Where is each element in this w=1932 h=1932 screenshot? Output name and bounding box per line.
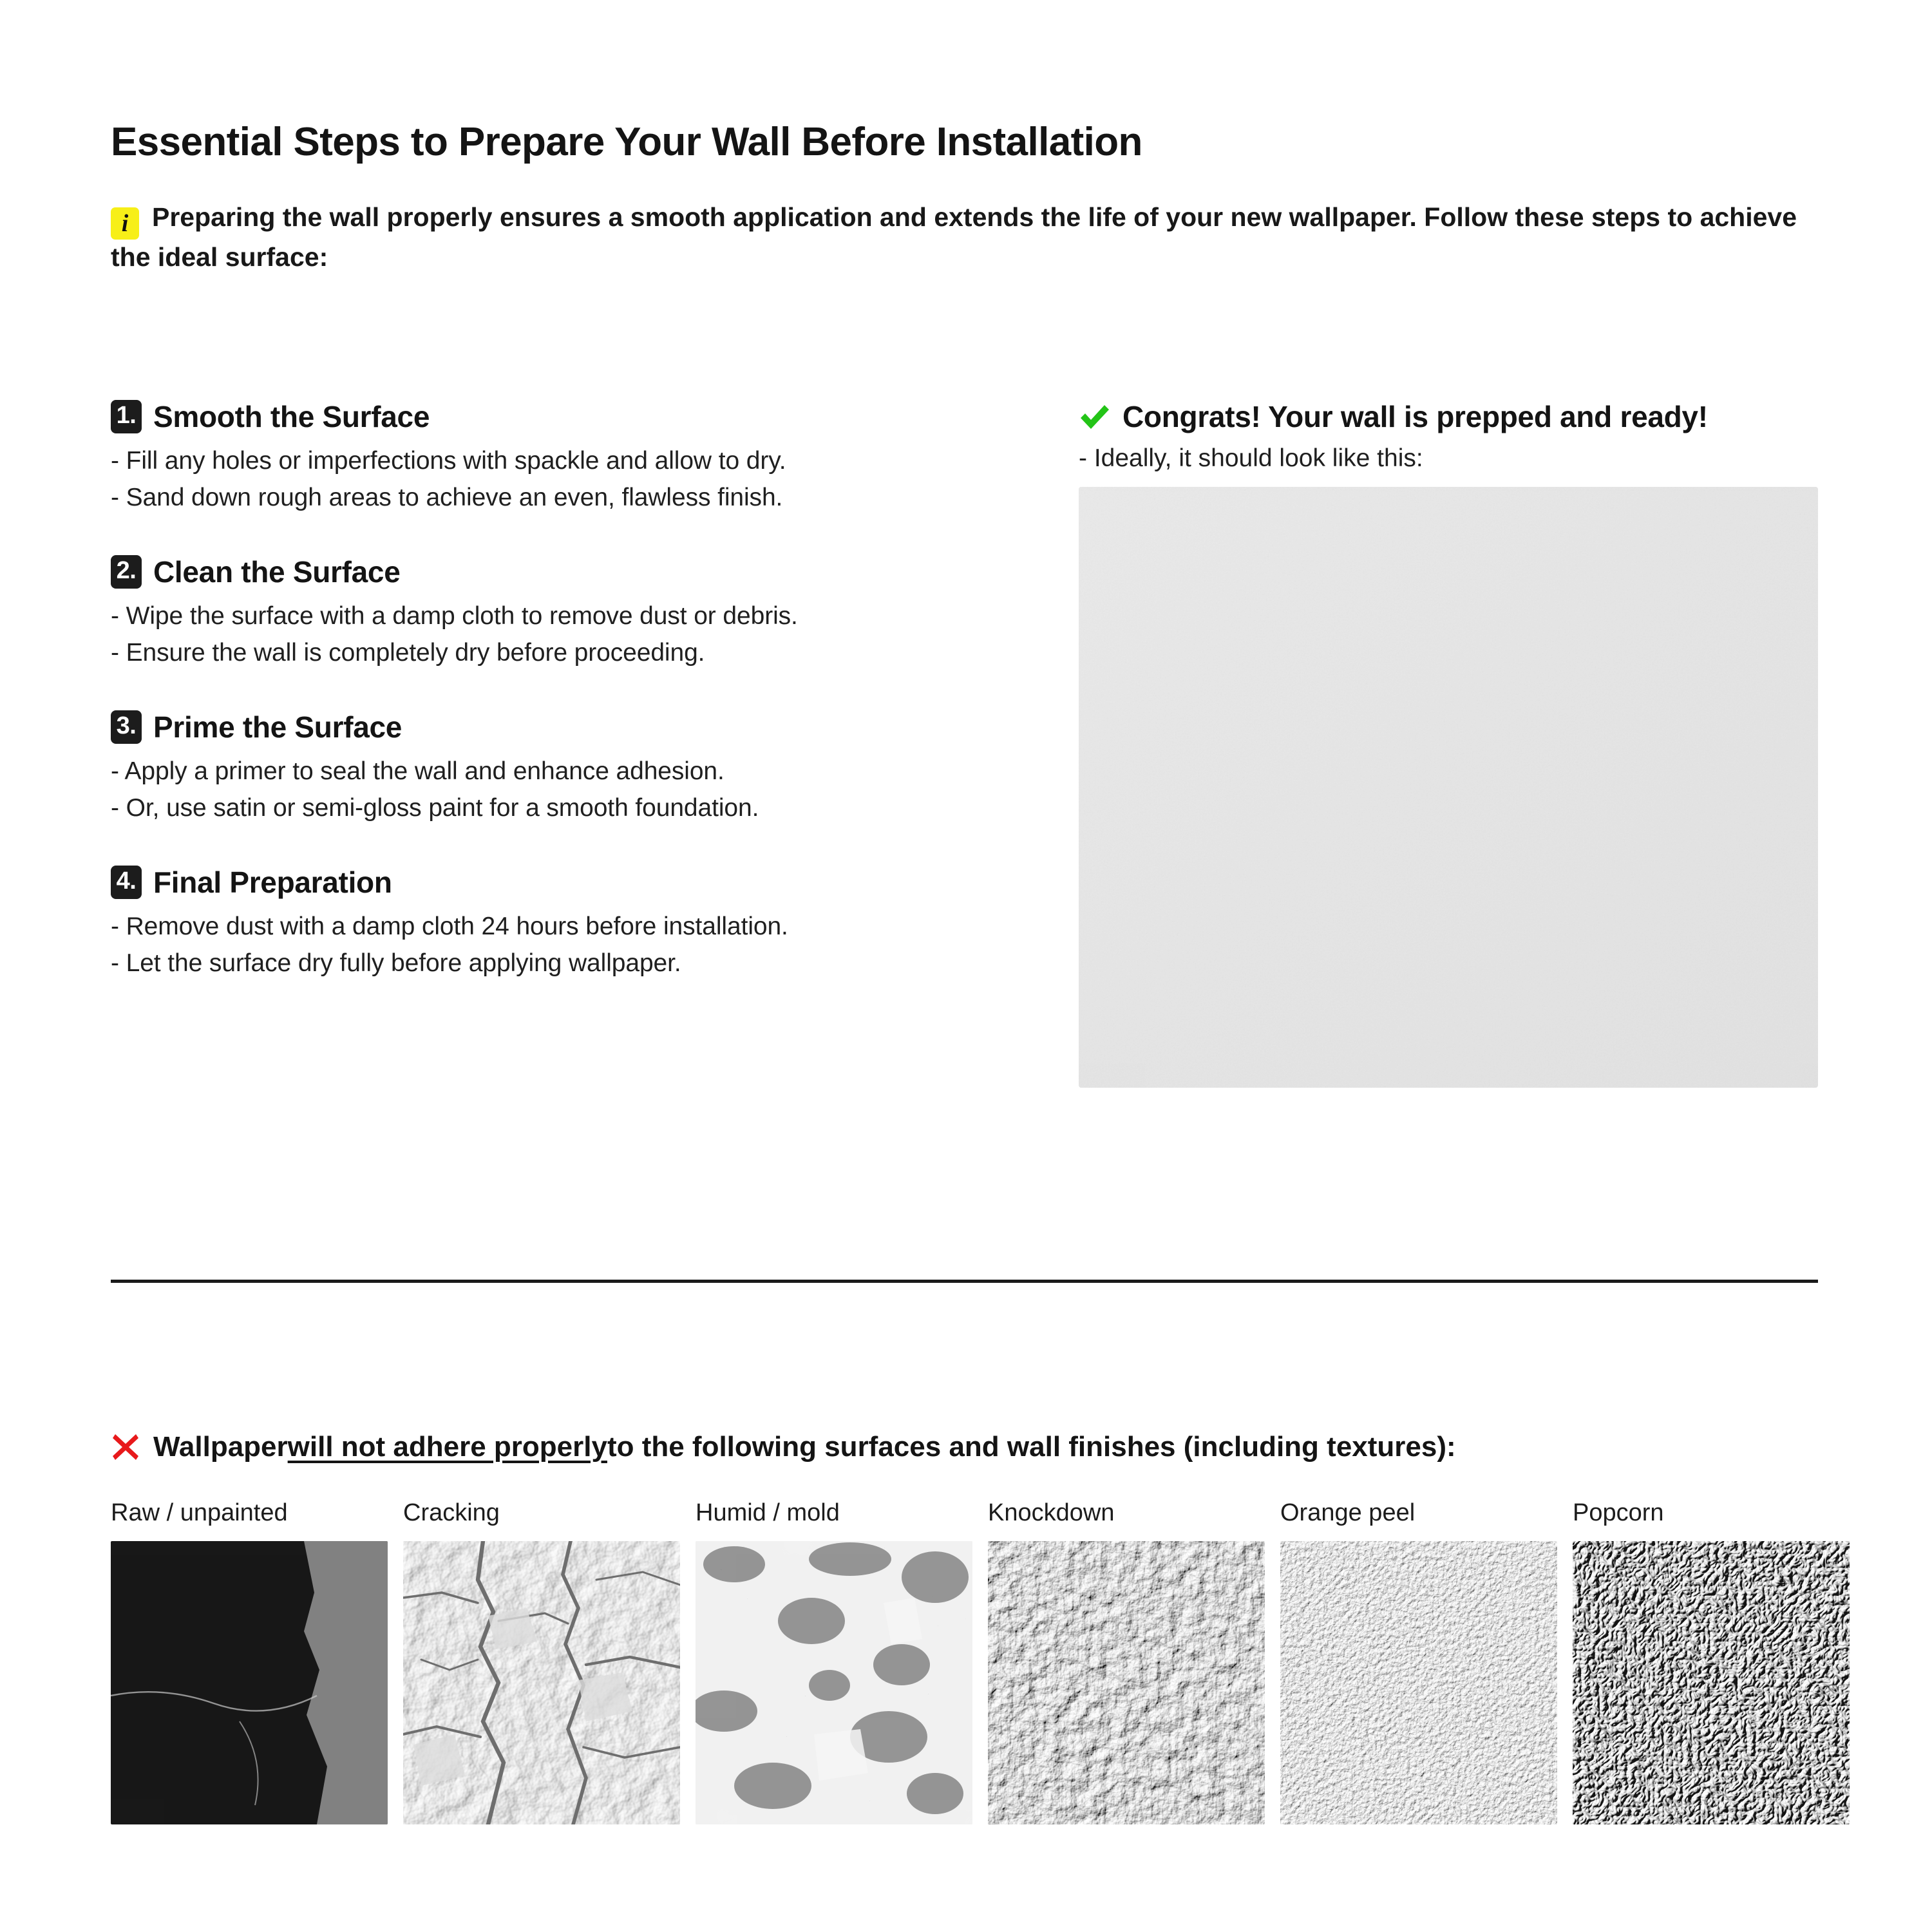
texture-label-cracking: Cracking bbox=[403, 1499, 680, 1527]
congrats-column: Congrats! Your wall is prepped and ready… bbox=[1079, 399, 1819, 1088]
step-2-number-badge: 2. bbox=[111, 555, 142, 589]
step-1-title: Smooth the Surface bbox=[153, 399, 430, 434]
texture-thumb-orangepeel bbox=[1280, 1541, 1557, 1824]
popcorn-texture bbox=[1573, 1541, 1850, 1824]
texture-thumb-cracking bbox=[403, 1541, 680, 1824]
congrats-title: Congrats! Your wall is prepped and ready… bbox=[1122, 399, 1708, 434]
step-2-lines: - Wipe the surface with a damp cloth to … bbox=[111, 598, 1012, 671]
raw-unpainted-texture bbox=[111, 1541, 388, 1824]
texture-label-popcorn: Popcorn bbox=[1573, 1499, 1850, 1527]
texture-item-mold: Humid / mold bbox=[696, 1499, 972, 1824]
step-item-1: 1. Smooth the Surface - Fill any holes o… bbox=[111, 399, 1012, 516]
humid-mold-texture bbox=[696, 1541, 972, 1824]
prepped-wall-preview-image bbox=[1079, 487, 1818, 1088]
knockdown-texture bbox=[988, 1541, 1265, 1824]
steps-column: 1. Smooth the Surface - Fill any holes o… bbox=[111, 399, 1012, 981]
red-x-icon bbox=[111, 1432, 140, 1462]
step-4-line-2: - Let the surface dry fully before apply… bbox=[111, 945, 1012, 982]
step-4-number-badge: 4. bbox=[111, 866, 142, 899]
step-4-title: Final Preparation bbox=[153, 865, 392, 900]
intro-text: Preparing the wall properly ensures a sm… bbox=[111, 202, 1797, 272]
intro-paragraph: iPreparing the wall properly ensures a s… bbox=[111, 200, 1824, 274]
texture-thumb-mold bbox=[696, 1541, 972, 1824]
texture-label-raw: Raw / unpainted bbox=[111, 1499, 388, 1527]
step-4-lines: - Remove dust with a damp cloth 24 hours… bbox=[111, 909, 1012, 981]
step-3-line-2: - Or, use satin or semi-gloss paint for … bbox=[111, 790, 1012, 827]
orange-peel-texture bbox=[1280, 1541, 1557, 1824]
congrats-subtitle: - Ideally, it should look like this: bbox=[1079, 444, 1819, 473]
smooth-wall-texture bbox=[1079, 487, 1818, 1088]
step-1-line-1: - Fill any holes or imperfections with s… bbox=[111, 443, 1012, 480]
step-1-lines: - Fill any holes or imperfections with s… bbox=[111, 443, 1012, 516]
step-2-header: 2. Clean the Surface bbox=[111, 554, 1012, 589]
texture-label-knockdown: Knockdown bbox=[988, 1499, 1265, 1527]
section-divider bbox=[111, 1280, 1818, 1283]
warning-heading: Wallpaper will not adhere properly to th… bbox=[111, 1431, 1456, 1463]
green-checkmark-icon bbox=[1079, 402, 1111, 431]
step-3-title: Prime the Surface bbox=[153, 710, 402, 744]
step-1-line-2: - Sand down rough areas to achieve an ev… bbox=[111, 480, 1012, 516]
congrats-header: Congrats! Your wall is prepped and ready… bbox=[1079, 399, 1819, 434]
texture-thumb-raw bbox=[111, 1541, 388, 1824]
texture-item-knockdown: Knockdown bbox=[988, 1499, 1265, 1824]
wall-prep-guide-page: Essential Steps to Prepare Your Wall Bef… bbox=[0, 0, 1932, 1932]
step-4-line-1: - Remove dust with a damp cloth 24 hours… bbox=[111, 909, 1012, 945]
texture-item-popcorn: Popcorn bbox=[1573, 1499, 1850, 1824]
warning-text-underlined: will not adhere properly bbox=[288, 1431, 607, 1463]
step-3-line-1: - Apply a primer to seal the wall and en… bbox=[111, 753, 1012, 790]
step-item-4: 4. Final Preparation - Remove dust with … bbox=[111, 865, 1012, 981]
page-title: Essential Steps to Prepare Your Wall Bef… bbox=[111, 120, 1142, 164]
texture-item-raw: Raw / unpainted bbox=[111, 1499, 388, 1824]
cracking-paint-texture bbox=[403, 1541, 680, 1824]
step-1-number-badge: 1. bbox=[111, 400, 142, 433]
bad-surfaces-strip: Raw / unpainted bbox=[111, 1499, 1824, 1824]
step-3-number-badge: 3. bbox=[111, 710, 142, 744]
warning-text-after: to the following surfaces and wall finis… bbox=[607, 1431, 1456, 1463]
step-item-3: 3. Prime the Surface - Apply a primer to… bbox=[111, 710, 1012, 826]
texture-item-orangepeel: Orange peel bbox=[1280, 1499, 1557, 1824]
warning-text-before: Wallpaper bbox=[153, 1431, 288, 1463]
step-4-header: 4. Final Preparation bbox=[111, 865, 1012, 900]
step-3-header: 3. Prime the Surface bbox=[111, 710, 1012, 744]
info-icon: i bbox=[111, 207, 139, 240]
step-1-header: 1. Smooth the Surface bbox=[111, 399, 1012, 434]
step-2-line-1: - Wipe the surface with a damp cloth to … bbox=[111, 598, 1012, 635]
texture-thumb-popcorn bbox=[1573, 1541, 1850, 1824]
texture-label-mold: Humid / mold bbox=[696, 1499, 972, 1527]
texture-item-cracking: Cracking bbox=[403, 1499, 680, 1824]
step-3-lines: - Apply a primer to seal the wall and en… bbox=[111, 753, 1012, 826]
texture-label-orangepeel: Orange peel bbox=[1280, 1499, 1557, 1527]
step-item-2: 2. Clean the Surface - Wipe the surface … bbox=[111, 554, 1012, 671]
step-2-line-2: - Ensure the wall is completely dry befo… bbox=[111, 635, 1012, 672]
texture-thumb-knockdown bbox=[988, 1541, 1265, 1824]
step-2-title: Clean the Surface bbox=[153, 554, 400, 589]
